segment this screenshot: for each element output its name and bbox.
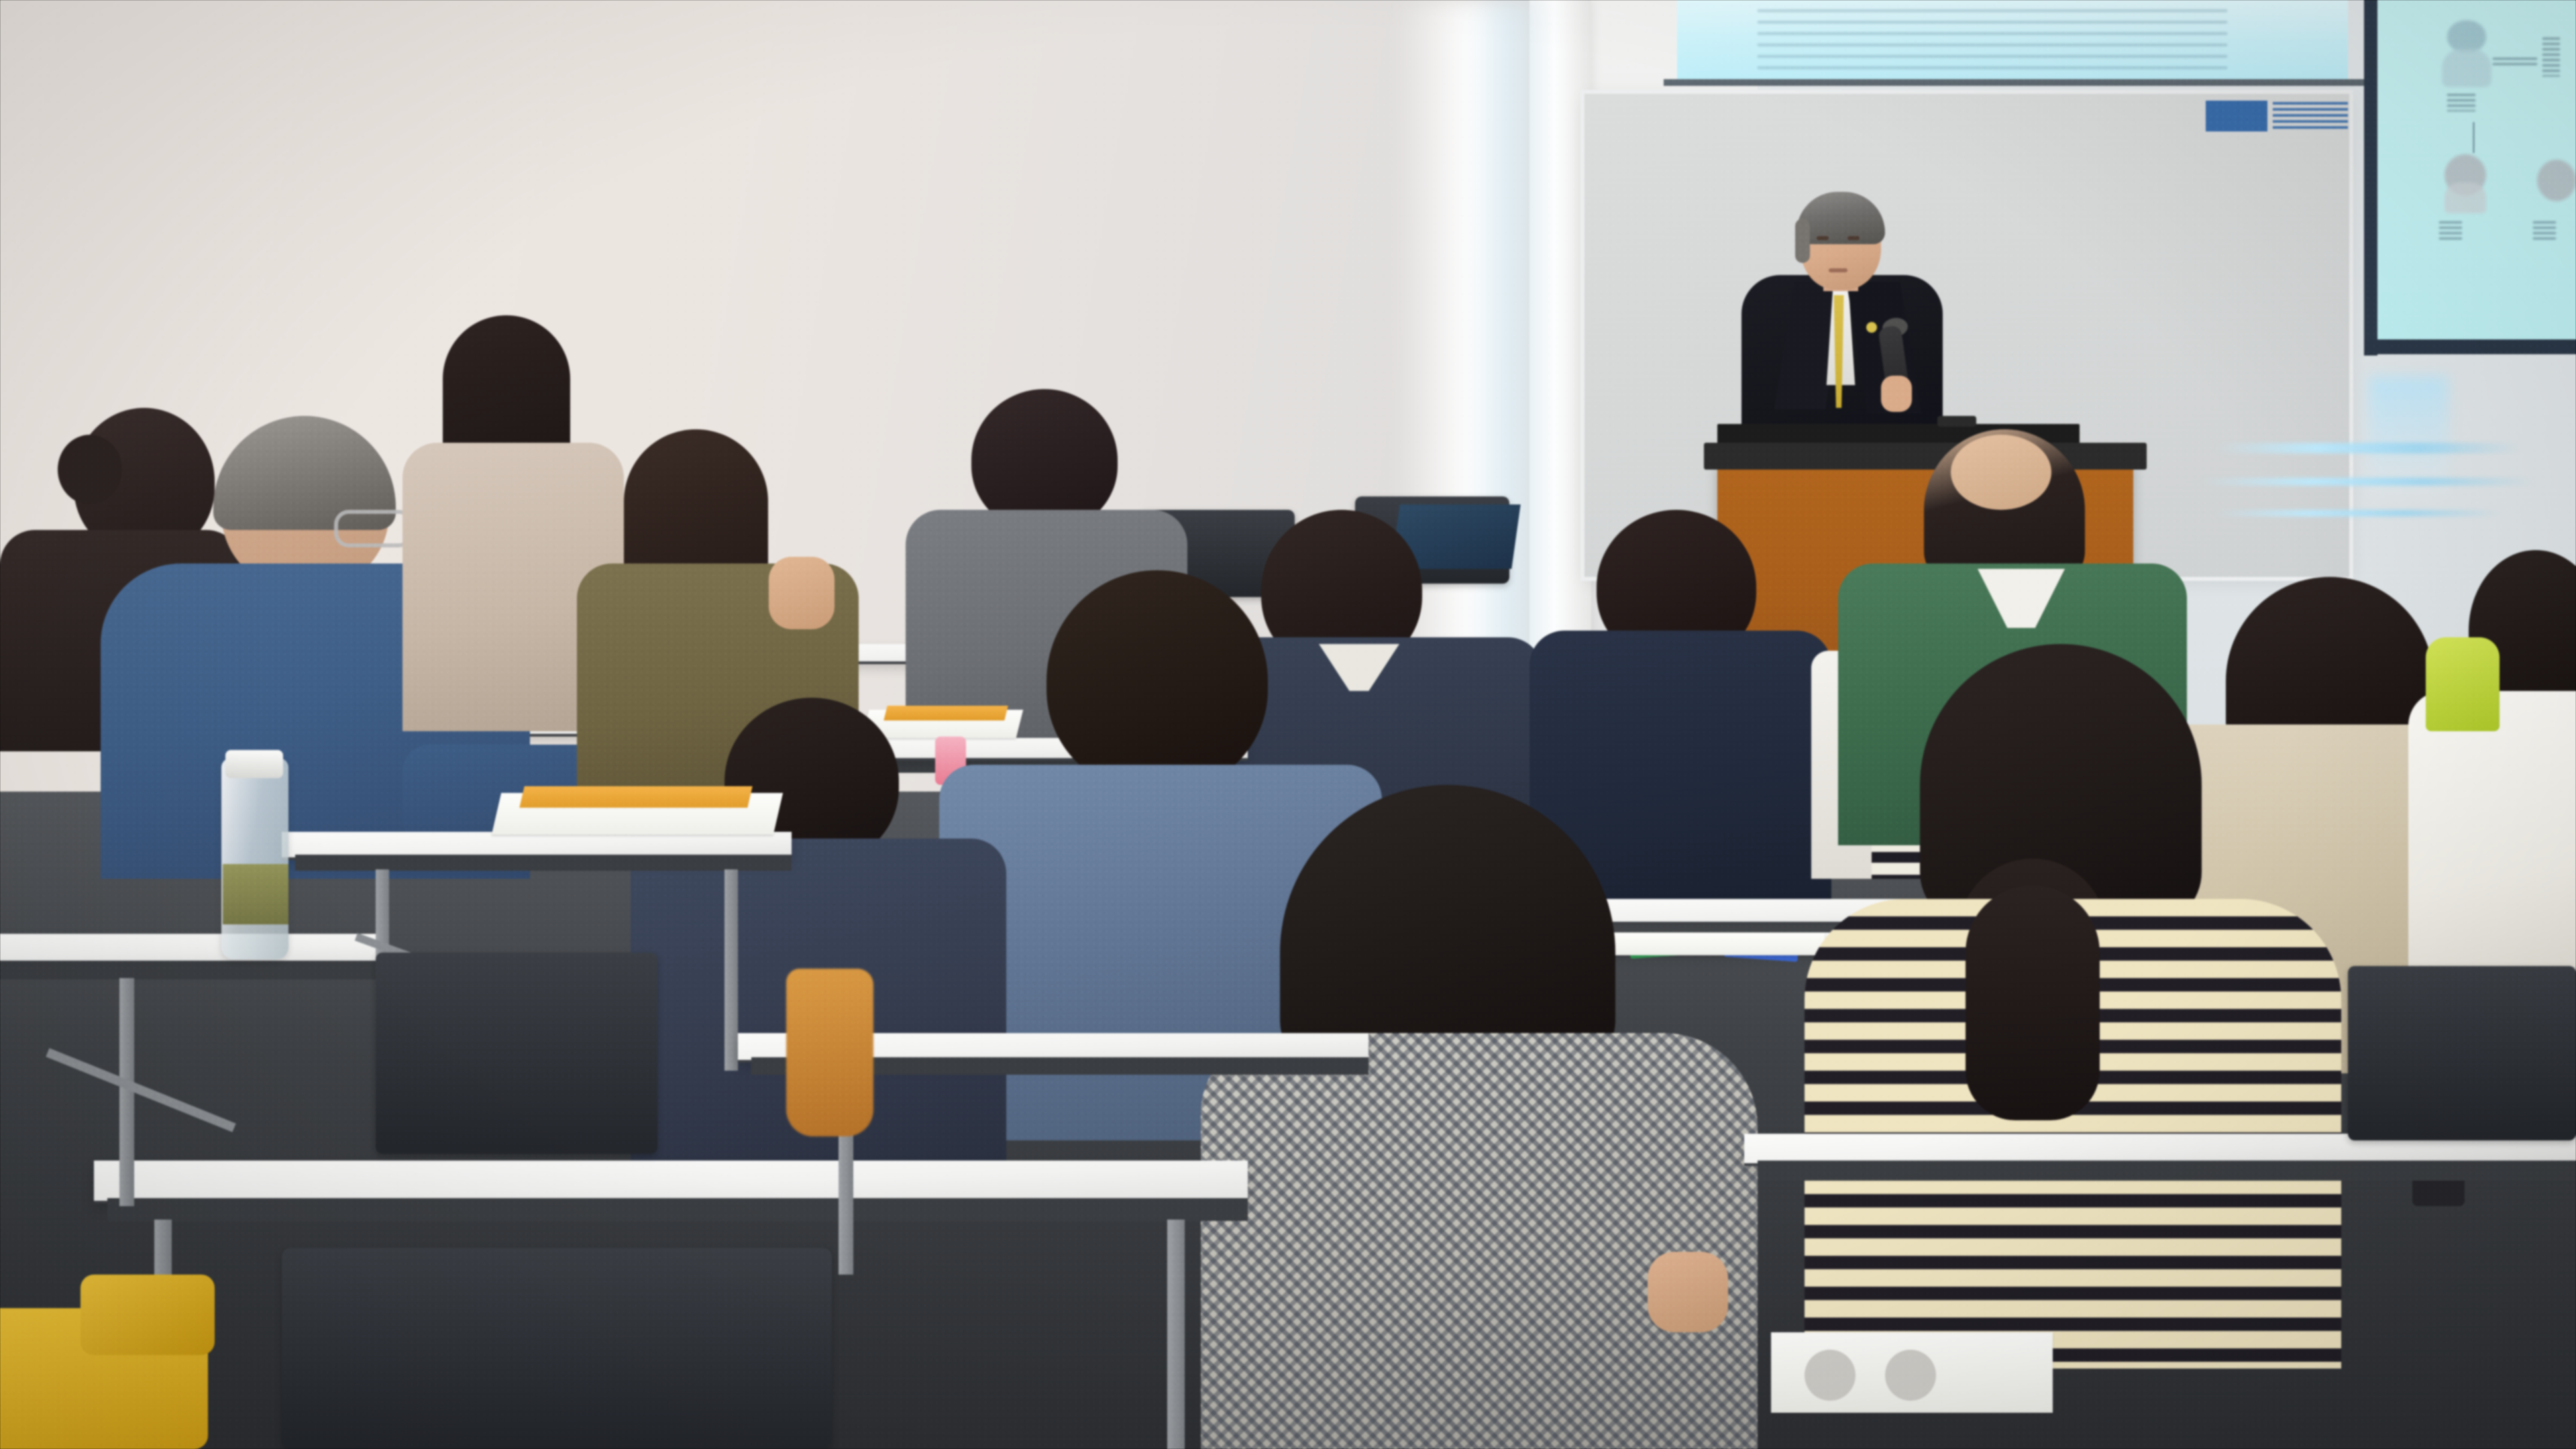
institution-logo-icon (2206, 101, 2267, 131)
water-bottle (221, 758, 288, 959)
attendee-tweed-jacket-hand (1648, 1252, 1728, 1332)
water-bottle-cap (225, 750, 283, 778)
attendee-striped-sweater-ponytail-overlay (1966, 885, 2100, 1120)
slide-figure-body-1 (2442, 48, 2491, 87)
eyeglasses-icon (334, 510, 413, 547)
attendee-green-sweater-bald-spot (1951, 435, 2051, 510)
desk-edge-front-right (1758, 1161, 2576, 1181)
slide-connector-line (2473, 122, 2475, 153)
top-screen-frame (1664, 79, 2365, 86)
presenter-hand (1881, 376, 1912, 412)
slide-caption-5 (2533, 221, 2556, 243)
presenter-hair-side (1795, 219, 1810, 263)
lime-green-item (2426, 637, 2500, 731)
attendee-tweed-jacket-body (1201, 1033, 1758, 1449)
slide-caption-4 (2439, 221, 2462, 243)
handout-front-right-graphic-1 (1805, 1350, 1856, 1401)
desk-edge-front-center (107, 1198, 1248, 1221)
window-light-streak-3 (2214, 510, 2502, 517)
attendee-denim-front-head (1046, 570, 1268, 792)
slide-caption-3 (2447, 94, 2475, 111)
desk-leg-front-center-2 (1167, 1220, 1185, 1449)
desk-mid-left (282, 832, 792, 857)
podium-microphone-stub (1937, 416, 1976, 427)
attendee-far-left-woman-bun (58, 435, 122, 504)
right-screen-frame-left (2364, 0, 2377, 356)
desk-edge-front-left (0, 961, 376, 979)
orange-handout-center (883, 706, 1008, 720)
chair-front-left (282, 1248, 832, 1449)
attendee-white-shirt-body (2408, 691, 2576, 986)
water-bottle-label (223, 864, 288, 924)
chair-right-front (2348, 966, 2576, 1140)
desk-leg-mid-left-2 (724, 869, 738, 1071)
window-light-streak-1 (2214, 443, 2522, 453)
desk-front-center (94, 1161, 1248, 1201)
window-light-streak-2 (2200, 478, 2536, 486)
orange-bag (786, 969, 873, 1136)
desk-front-left (0, 934, 376, 963)
desk-edge-mid-left (295, 855, 792, 871)
presenter-eye-right (1847, 236, 1860, 240)
slide-caption-2 (2542, 38, 2560, 76)
slide-figure-icon-3 (2537, 160, 2576, 201)
photograph-seminar-room: Seminar room lecture — audience viewing … (0, 0, 2576, 1449)
orange-handout-left (519, 786, 752, 808)
yellow-bag-strap (80, 1275, 215, 1355)
chair-mid-left (376, 953, 657, 1154)
top-screen-slide-text (1758, 9, 2227, 74)
institution-logo-text (2273, 102, 2348, 131)
presenter-lapel-badge (1866, 322, 1877, 333)
podium-top-surface (1704, 443, 2147, 470)
desk-leg-front-left-1 (119, 978, 134, 1206)
slide-caption-1 (2493, 58, 2537, 66)
attendee-woman-olive-hand (769, 557, 835, 629)
presenter-eye-left (1817, 236, 1829, 240)
handout-paper-right (1603, 932, 1825, 955)
slide-figure-body-2 (2445, 182, 2486, 213)
handout-front-right-graphic-2 (1885, 1350, 1936, 1401)
slide-figure-icon-1 (2447, 20, 2486, 52)
right-screen-frame-bottom (2364, 339, 2576, 354)
presenter-mouth (1829, 268, 1847, 272)
